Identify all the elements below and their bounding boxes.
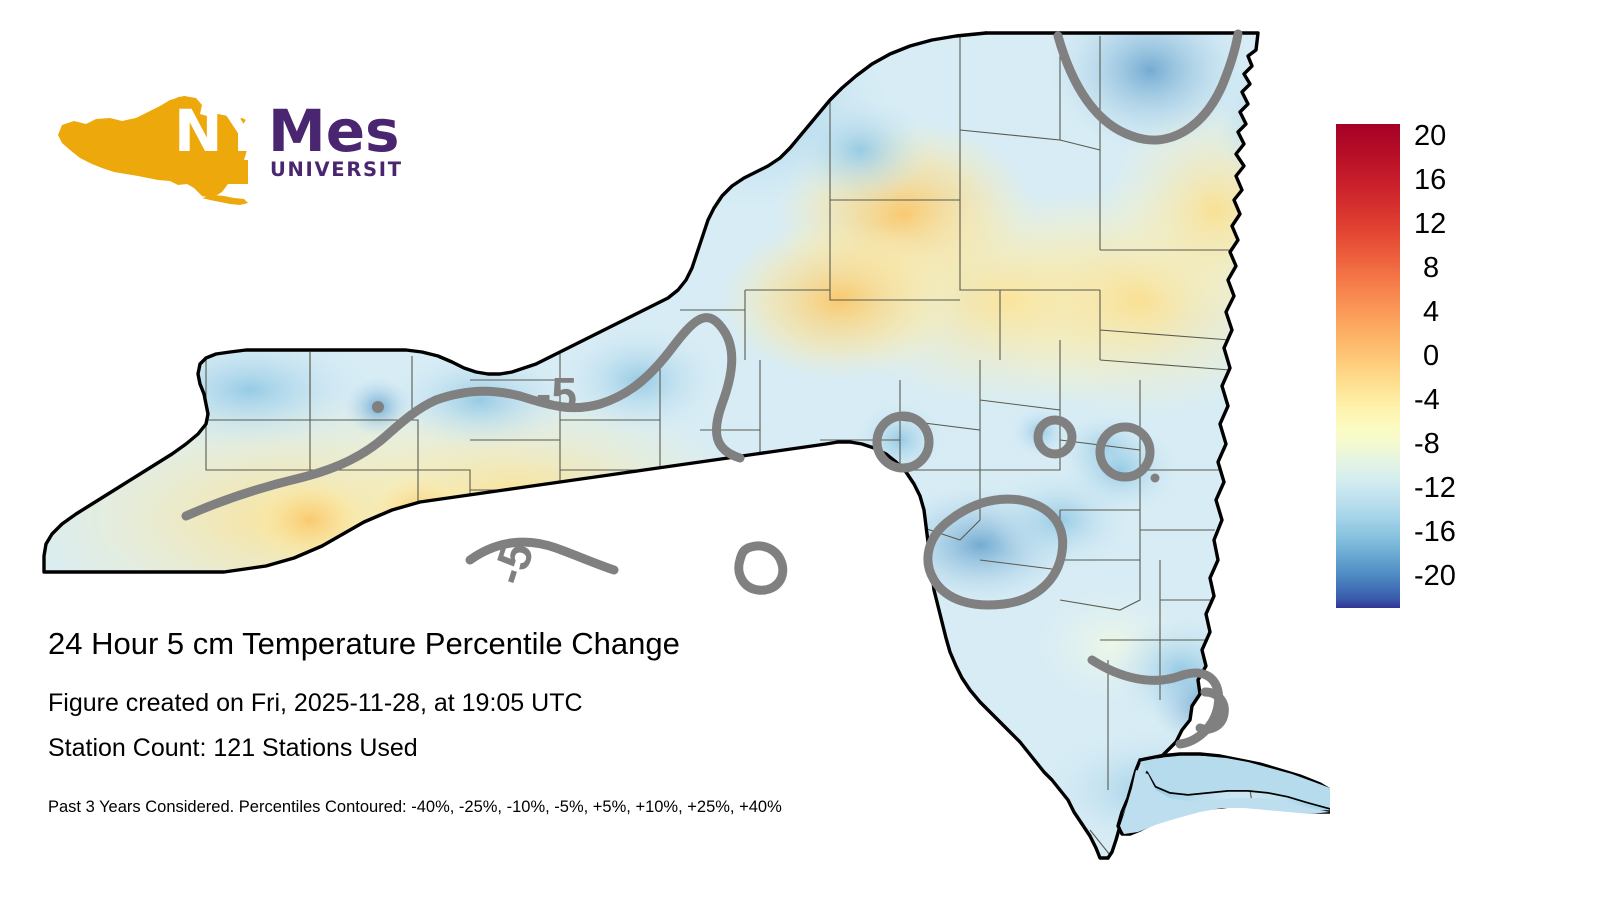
contour-label-minus5-north: -5: [536, 368, 577, 420]
colorbar-tick: 16: [1414, 166, 1446, 195]
colorbar-tick: 0: [1423, 342, 1439, 371]
colorbar-gradient: [1336, 124, 1400, 608]
colorbar-tick: -20: [1414, 562, 1456, 591]
colorbar: [1336, 124, 1400, 608]
figure-canvas: NYS Mesonet UNIVERSITY AT ALBANY: [0, 0, 1600, 900]
figure-created-timestamp: Figure created on Fri, 2025-11-28, at 19…: [48, 690, 1148, 718]
colorbar-tick: 8: [1423, 254, 1439, 283]
colorbar-tick: -8: [1414, 430, 1440, 459]
figure-title: 24 Hour 5 cm Temperature Percentile Chan…: [48, 626, 1148, 662]
colorbar-tick: 4: [1423, 298, 1439, 327]
colorbar-tick: -12: [1414, 474, 1456, 503]
station-count-label: Station Count: 121 Stations Used: [48, 735, 1148, 763]
colorbar-tick: -16: [1414, 518, 1456, 547]
colorbar-tick: -4: [1414, 386, 1440, 415]
colorbar-tick: 20: [1414, 122, 1446, 151]
figure-footnote: Past 3 Years Considered. Percentiles Con…: [48, 798, 1148, 817]
caption-block: 24 Hour 5 cm Temperature Percentile Chan…: [48, 626, 1148, 817]
colorbar-tick-labels: 20 16 12 8 4 0 -4 -8 -12 -16 -20: [1414, 124, 1534, 608]
colorbar-tick: 12: [1414, 210, 1446, 239]
